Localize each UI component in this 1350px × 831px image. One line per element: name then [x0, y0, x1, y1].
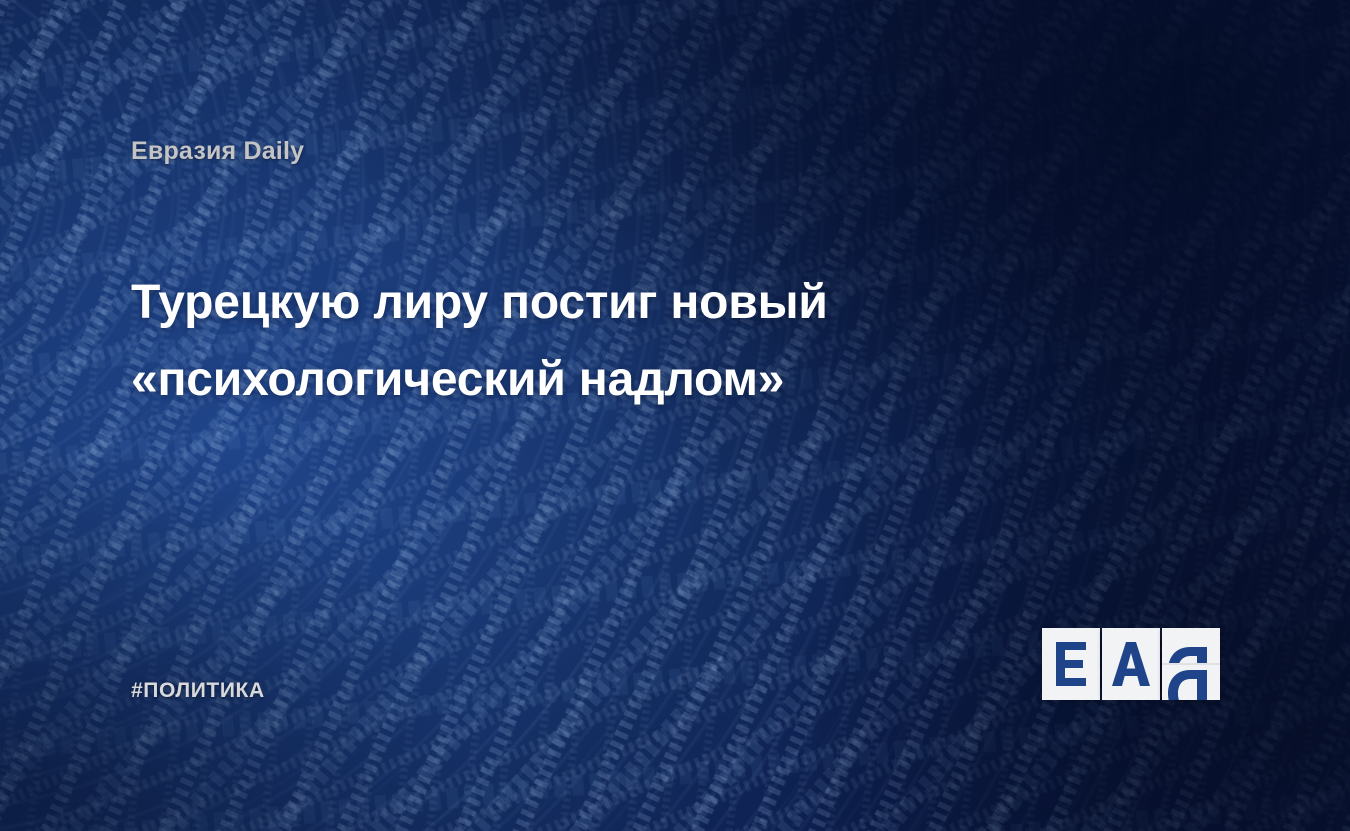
letter-e-icon — [1051, 639, 1091, 689]
letter-a-icon — [1110, 639, 1152, 689]
logo-tile-a — [1102, 628, 1160, 700]
logo-tile-d-mark — [1162, 628, 1220, 700]
card-content: Евразия Daily Турецкую лиру постиг новый… — [0, 0, 1350, 831]
logo-mark-bottom-half — [1162, 664, 1220, 700]
news-share-card: Евразия Daily Турецкую лиру постиг новый… — [0, 0, 1350, 831]
eadaily-logo[interactable] — [1042, 628, 1220, 700]
headline: Турецкую лиру постиг новый «психологичес… — [131, 265, 1011, 419]
logo-tile-e — [1042, 628, 1100, 700]
category-hashtag[interactable]: #ПОЛИТИКА — [131, 679, 265, 703]
letter-d-icon — [1162, 628, 1220, 664]
letter-d-icon-mirrored — [1162, 664, 1220, 700]
logo-mark-top-half — [1162, 628, 1220, 664]
brand-name: Евразия Daily — [131, 137, 304, 166]
headline-line-2: «психологический надлом» — [131, 342, 1011, 419]
headline-line-1: Турецкую лиру постиг новый — [131, 265, 1011, 342]
